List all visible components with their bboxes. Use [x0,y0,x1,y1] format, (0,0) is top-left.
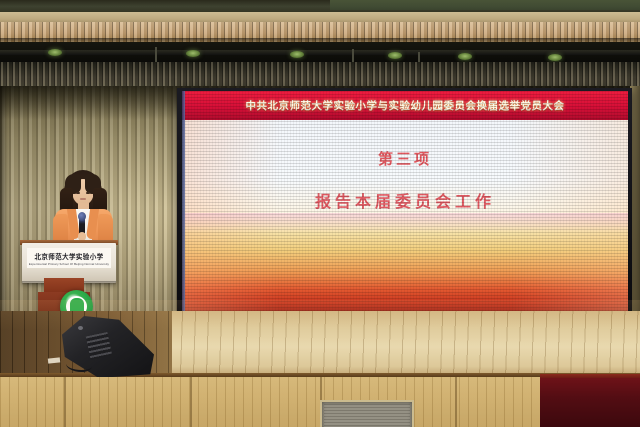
mouth [80,198,86,200]
stage-front-vent [320,400,414,427]
slide-agenda-number: 第三项 [182,148,628,169]
led-screen[interactable]: 中共北京师范大学实验小学与实验幼儿园委员会换届选举党员大会 第三项 报告本届委员… [182,91,628,312]
eye-left [76,192,80,194]
stage-light-icon-6 [548,54,562,61]
microphone-head [78,212,86,221]
front-panel-seam-2 [190,377,192,427]
slide-agenda-title: 报告本届委员会工作 [182,188,628,212]
right-edge-shadow [630,86,640,311]
screen-left-edge [182,91,185,312]
red-table-cloth [540,378,640,427]
speaker-person [52,170,114,248]
speaker-handle [78,326,83,330]
truss-bar [0,50,640,55]
speaker-grille [86,332,113,360]
screen-pink-band [182,213,628,233]
eye-right [86,192,90,194]
auditorium-scene: 中共北京师范大学实验小学与实验幼儿园委员会换届选举党员大会 第三项 报告本届委员… [0,0,640,427]
podium-sign-chinese: 北京师范大学实验小学 [35,250,104,261]
stage-light-icon-2 [186,50,200,57]
conference-banner-text: 中共北京师范大学实验小学与实验幼儿园委员会换届选举党员大会 [182,91,628,120]
stage-light-icon-4 [388,52,402,59]
stage-light-icon-3 [290,51,304,58]
stage-light-icon-5 [458,53,472,60]
stage-light-icon-1 [48,49,62,56]
front-panel-seam-4 [455,377,457,427]
podium-sign-english: Experimental Primary School Of Beijing N… [29,262,109,266]
front-panel-seam-1 [64,377,66,427]
podium-sign: 北京师范大学实验小学 Experimental Primary School O… [27,248,111,268]
ceiling-green-panel [330,0,640,10]
